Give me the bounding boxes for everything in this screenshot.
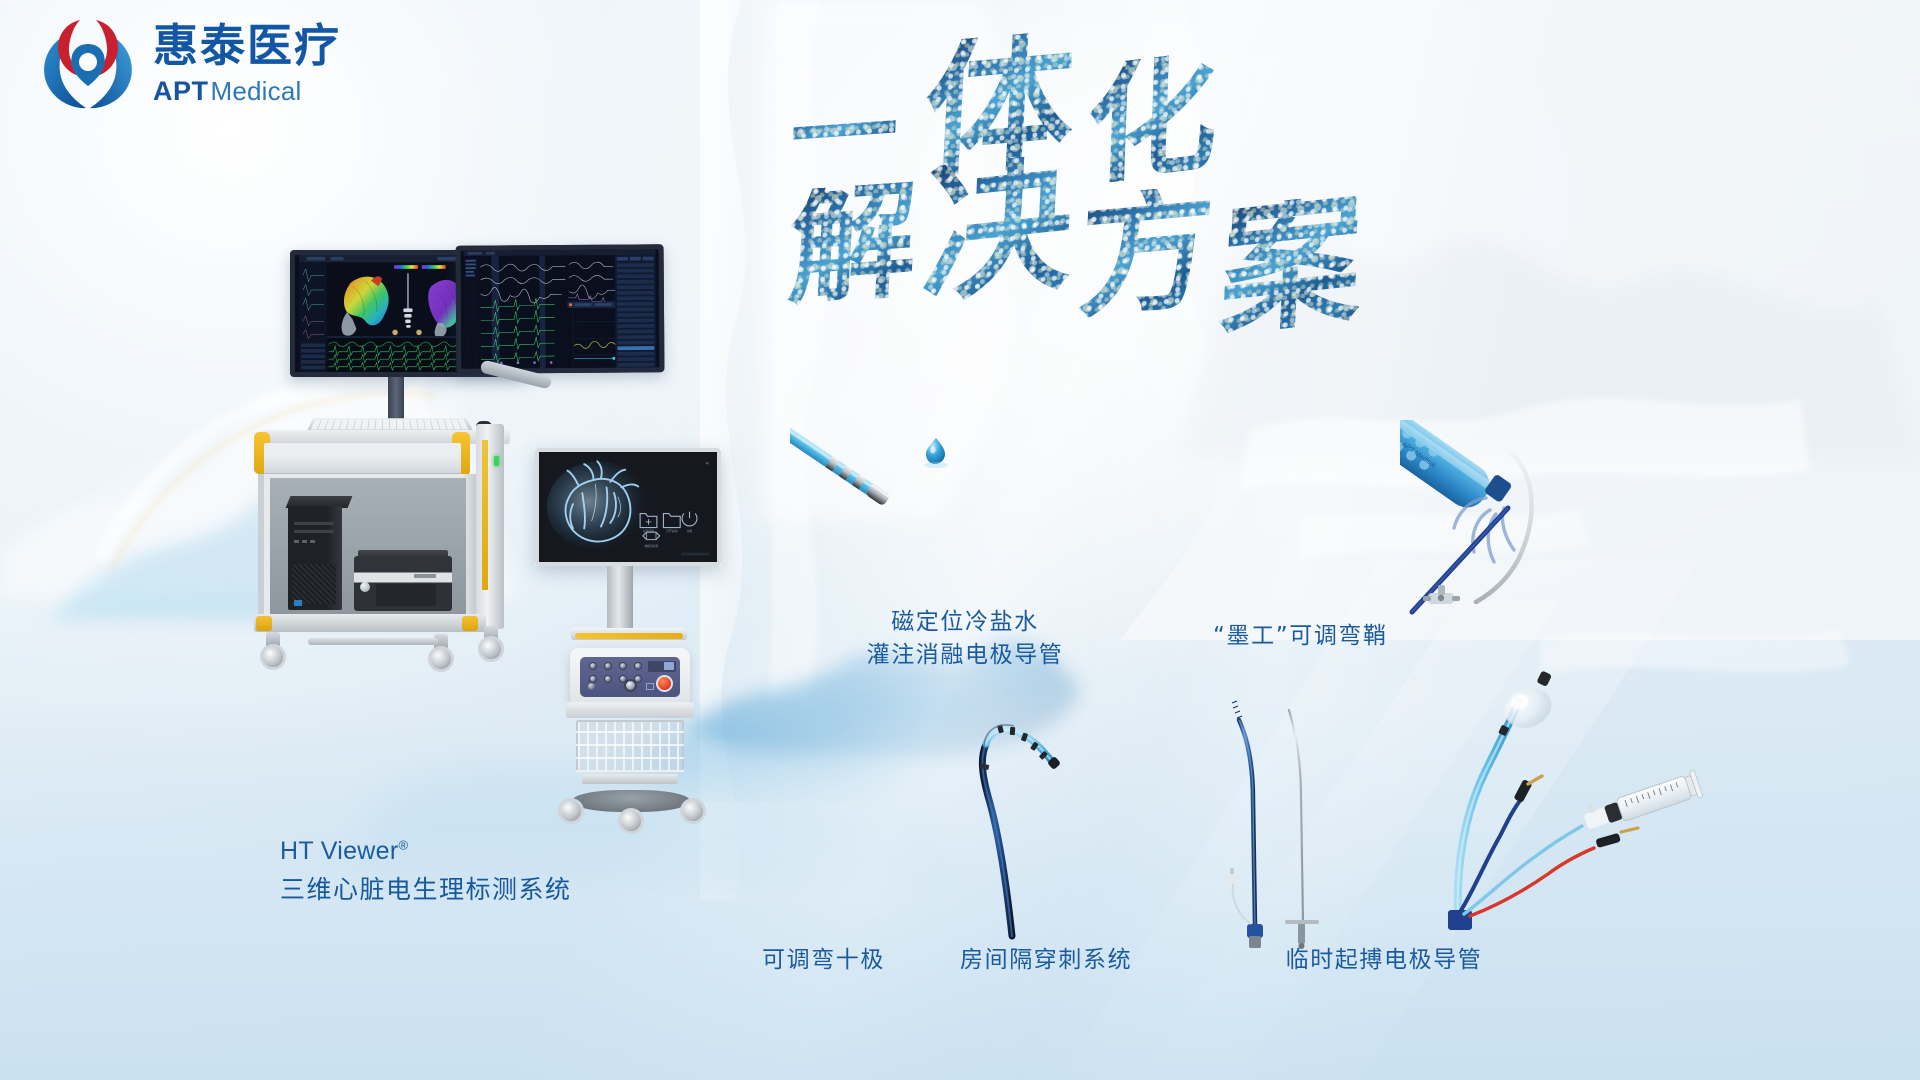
- headline-char-4: 解: [784, 181, 919, 335]
- pc-vent: [292, 564, 336, 604]
- label-temporary-pacing-catheter: 临时起搏电极导管: [1284, 944, 1484, 977]
- connector-port-3[interactable]: [604, 662, 612, 670]
- trolley-mid-shelf: [582, 774, 678, 784]
- svg-text:关机: 关机: [687, 529, 693, 533]
- main-connector-port[interactable]: [624, 679, 637, 692]
- control-panel-face: [580, 657, 680, 697]
- logo-chinese-name: 惠泰医疗: [153, 23, 341, 68]
- svg-text:新建病例: 新建病例: [643, 529, 654, 533]
- headline-char-6: 方: [1075, 183, 1218, 337]
- cart-right-column: [476, 424, 504, 629]
- transseptal-puncture-system-image: [1215, 680, 1345, 950]
- cart-base-trim-right: [462, 616, 478, 631]
- ht-viewer-english: HT Viewer®: [280, 836, 572, 867]
- heart-screen-content: 新建病例 打开病例 关机 电解剖标测: [539, 452, 717, 562]
- label-steerable-sheath: “墨工”可调弯鞘: [1213, 620, 1373, 653]
- monitor-ep-recording: [456, 244, 665, 373]
- brand-logo[interactable]: 惠泰医疗 APT Medical: [36, 14, 341, 112]
- steerable-sheath-image: APT Medical: [1400, 420, 1700, 620]
- trolley-caster-2: [680, 798, 706, 824]
- logo-medical-text: Medical: [211, 76, 302, 107]
- workstation-cart: [248, 430, 548, 800]
- trolley-shelf: [566, 702, 694, 718]
- irrigated-ablation-catheter-image: [790, 355, 1020, 505]
- connector-port-1[interactable]: [589, 662, 597, 670]
- recording-screen-content: [461, 249, 660, 368]
- headline-char-5: 决: [918, 151, 1076, 339]
- ht-viewer-system-label: HT Viewer® 三维心脏电生理标测系统: [280, 836, 572, 906]
- svg-text:打开病例: 打开病例: [666, 529, 677, 533]
- cart-top-shelf: [260, 430, 510, 444]
- decapolar-catheter-image: [940, 700, 1140, 940]
- connector-port-2[interactable]: [589, 675, 597, 683]
- connector-port-7[interactable]: [634, 662, 642, 670]
- display-cart-tray-trim: [575, 633, 683, 639]
- trolley-basket-grid: [576, 720, 684, 772]
- svg-text:电解剖标测: 电解剖标测: [644, 544, 658, 548]
- heart-display-monitor: 新建病例 打开病例 关机 电解剖标测: [535, 448, 721, 566]
- caster-wheel-3: [478, 636, 504, 662]
- power-led: [494, 456, 499, 466]
- control-interface-box[interactable]: [570, 648, 690, 706]
- trolley-caster-3: [618, 808, 644, 834]
- cart-foot-bar: [308, 638, 438, 645]
- display-trolley-base: [556, 702, 706, 830]
- cart-base-trim-left: [256, 616, 272, 631]
- connector-port-4[interactable]: [604, 675, 612, 683]
- registered-trademark-icon: ®: [398, 838, 408, 853]
- ht-viewer-chinese: 三维心脏电生理标测系统: [280, 874, 572, 905]
- headline-calligraphy: 一 体 化 解 决 方 案: [790, 34, 1350, 324]
- monitor-stand-left: [388, 377, 404, 421]
- wifi-indicator-icon: [646, 683, 654, 690]
- temporary-pacing-catheter-image: [1400, 660, 1710, 930]
- poster-stage: 惠泰医疗 APT Medical 一 体 化 解 决 方 案: [0, 0, 1920, 1080]
- logo-apt-text: APT: [153, 76, 209, 107]
- ground-port[interactable]: [588, 683, 595, 690]
- caster-wheel-2: [428, 646, 454, 672]
- printer: [354, 556, 452, 611]
- cart-base-shelf: [254, 614, 486, 632]
- label-transseptal-puncture-system: 房间隔穿刺系统: [960, 944, 1130, 977]
- label-irrigated-ablation-catheter: 磁定位冷盐水 灌注消融电极导管: [865, 606, 1065, 671]
- apt-logo-mark: [36, 14, 140, 112]
- connector-port-5[interactable]: [619, 662, 627, 670]
- logo-english-name: APT Medical: [153, 76, 341, 107]
- display-stand-column: [607, 566, 633, 634]
- headline-char-7: 案: [1217, 192, 1365, 339]
- caster-wheel-1: [260, 644, 286, 670]
- pc-tower: [288, 506, 342, 610]
- cart-drawer[interactable]: [264, 443, 461, 475]
- label-decapolar-catheter: 可调弯十极: [762, 944, 882, 977]
- trolley-caster-1: [558, 798, 584, 824]
- cart-right-yellow-strip: [482, 440, 488, 590]
- ht-viewer-name: HT Viewer: [280, 837, 398, 865]
- panel-logo-badge: [664, 662, 674, 670]
- emergency-button[interactable]: [656, 675, 673, 692]
